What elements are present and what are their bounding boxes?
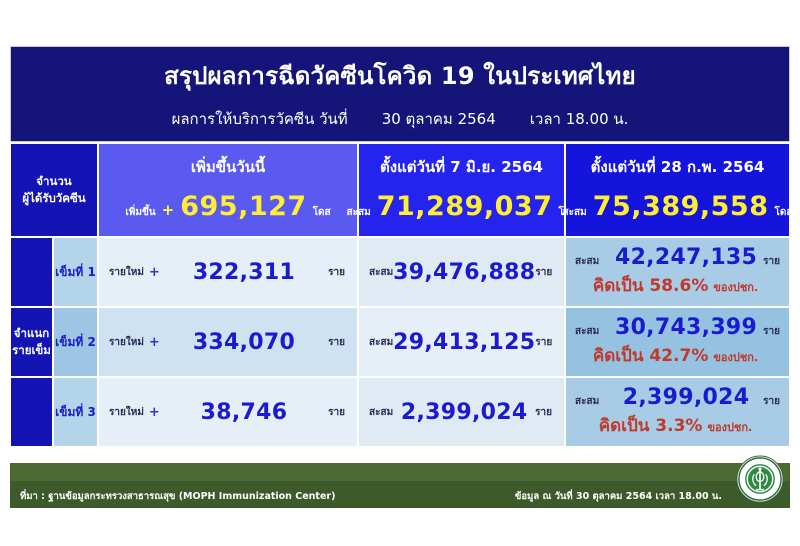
- group-label: จำแนก รายเข็ม: [10, 307, 53, 377]
- header-jun-value: 71,289,037: [377, 191, 553, 222]
- feb-prefix-3: สะสม: [575, 394, 609, 409]
- footer-accent-bar: [10, 463, 790, 481]
- feb-unit-2: ราย: [763, 324, 780, 339]
- subtitle-date: 30 ตุลาคม 2564: [382, 107, 496, 131]
- header-row-label: จำนวน ผู้ได้รับวัคซีน: [10, 143, 98, 237]
- feb-percent-row-3: คิดเป็น 3.3% ของปชก.: [566, 412, 789, 439]
- feb-unit-3: ราย: [763, 394, 780, 409]
- cell-today-1: รายใหม่ + 322,311 ราย: [98, 237, 358, 307]
- table-header-row: จำนวน ผู้ได้รับวัคซีน เพิ่มขึ้นวันนี้ เพ…: [10, 143, 790, 237]
- header-row-label-line2: ผู้ได้รับวัคซีน: [22, 190, 85, 207]
- jun-prefix-2: สะสม: [369, 335, 393, 350]
- cell-since-jun-1: สะสม 39,476,888 ราย: [358, 237, 565, 307]
- table-row: เข็มที่ 1 รายใหม่ + 322,311 ราย สะสม 39,…: [10, 237, 790, 307]
- header-feb-unit: โดส: [775, 205, 793, 220]
- feb-percent-row-1: คิดเป็น 58.6% ของปชก.: [566, 272, 789, 299]
- group-label-spacer-bottom: [10, 377, 53, 447]
- today-unit-3: ราย: [328, 405, 345, 420]
- header-col-since-feb-title: ตั้งแต่วันที่ 28 ก.พ. 2564: [566, 155, 789, 179]
- jun-value-1: 39,476,888: [393, 260, 535, 285]
- dose-label-2: เข็มที่ 2: [53, 307, 98, 377]
- header-row-label-line1: จำนวน: [36, 173, 71, 190]
- footer-source-text: ที่มา : ฐานข้อมูลกระทรวงสาธารณสุข (MOPH …: [20, 489, 335, 504]
- feb-percent-of-1: ของปชก.: [713, 278, 758, 296]
- header-col-since-feb-body: สะสม 75,389,558 โดส: [566, 191, 789, 222]
- today-prefix-3: รายใหม่: [109, 405, 144, 420]
- moph-logo-icon: [736, 455, 784, 503]
- feb-value-2: 30,743,399: [609, 315, 763, 340]
- header-today-unit: โดส: [313, 205, 331, 220]
- feb-prefix-2: สะสม: [575, 324, 609, 339]
- feb-prefix-1: สะสม: [575, 254, 609, 269]
- title-subtitle: ผลการให้บริการวัคซีน วันที่ 30 ตุลาคม 25…: [11, 107, 789, 131]
- cell-since-jun-3: สะสม 2,399,024 ราย: [358, 377, 565, 447]
- page-title: สรุปผลการฉีดวัคซีนโควิด 19 ในประเทศไทย: [11, 63, 789, 89]
- header-today-value: 695,127: [180, 191, 306, 222]
- footer-asof-text: ข้อมูล ณ วันที่ 30 ตุลาคม 2564 เวลา 18.0…: [515, 489, 722, 504]
- cell-today-3: รายใหม่ + 38,746 ราย: [98, 377, 358, 447]
- jun-prefix-1: สะสม: [369, 265, 393, 280]
- dose-label-3: เข็มที่ 3: [53, 377, 98, 447]
- subtitle-time: เวลา 18.00 น.: [530, 107, 629, 131]
- header-col-since-jun: ตั้งแต่วันที่ 7 มิ.ย. 2564 สะสม 71,289,0…: [358, 143, 565, 237]
- cell-since-feb-2: สะสม 30,743,399 ราย คิดเป็น 42.7% ของปชก…: [565, 307, 790, 377]
- today-plus-2: +: [149, 335, 160, 350]
- header-col-since-jun-title: ตั้งแต่วันที่ 7 มิ.ย. 2564: [359, 155, 564, 179]
- vaccination-summary-table: จำนวน ผู้ได้รับวัคซีน เพิ่มขึ้นวันนี้ เพ…: [10, 143, 790, 455]
- header-today-plus: +: [162, 201, 175, 219]
- jun-value-3: 2,399,024: [393, 400, 535, 425]
- feb-value-row-3: สะสม 2,399,024 ราย: [566, 385, 789, 410]
- header-col-today: เพิ่มขึ้นวันนี้ เพิ่มขึ้น + 695,127 โดส: [98, 143, 358, 237]
- table-row: เข็มที่ 3 รายใหม่ + 38,746 ราย สะสม 2,39…: [10, 377, 790, 447]
- today-plus-1: +: [149, 265, 160, 280]
- header-col-today-body: เพิ่มขึ้น + 695,127 โดส: [99, 191, 357, 222]
- dose-label-1: เข็มที่ 1: [53, 237, 98, 307]
- header-jun-prefix: สะสม: [347, 205, 371, 220]
- feb-percent-of-3: ของปชก.: [707, 418, 752, 436]
- header-feb-value: 75,389,558: [593, 191, 769, 222]
- today-plus-3: +: [149, 405, 160, 420]
- feb-percent-1: คิดเป็น 58.6%: [593, 272, 709, 299]
- jun-unit-1: ราย: [535, 265, 552, 280]
- table-row: จำแนก รายเข็ม เข็มที่ 2 รายใหม่ + 334,07…: [10, 307, 790, 377]
- group-label-spacer-top: [10, 237, 53, 307]
- cell-since-jun-2: สะสม 29,413,125 ราย: [358, 307, 565, 377]
- infographic-canvas: สรุปผลการฉีดวัคซีนโควิด 19 ในประเทศไทย ผ…: [0, 0, 800, 546]
- feb-unit-1: ราย: [763, 254, 780, 269]
- header-today-prefix: เพิ่มขึ้น: [125, 205, 155, 220]
- subtitle-label: ผลการให้บริการวัคซีน วันที่: [172, 107, 348, 131]
- header-col-since-jun-body: สะสม 71,289,037 โดส: [359, 191, 564, 222]
- jun-value-2: 29,413,125: [393, 330, 535, 355]
- feb-value-row-2: สะสม 30,743,399 ราย: [566, 315, 789, 340]
- header-col-since-feb: ตั้งแต่วันที่ 28 ก.พ. 2564 สะสม 75,389,5…: [565, 143, 790, 237]
- feb-value-1: 42,247,135: [609, 245, 763, 270]
- feb-percent-3: คิดเป็น 3.3%: [599, 412, 703, 439]
- cell-today-2: รายใหม่ + 334,070 ราย: [98, 307, 358, 377]
- today-value-2: 334,070: [160, 330, 328, 355]
- feb-value-row-1: สะสม 42,247,135 ราย: [566, 245, 789, 270]
- header-col-today-title: เพิ่มขึ้นวันนี้: [99, 155, 357, 179]
- title-banner: สรุปผลการฉีดวัคซีนโควิด 19 ในประเทศไทย ผ…: [10, 46, 790, 142]
- feb-percent-row-2: คิดเป็น 42.7% ของปชก.: [566, 342, 789, 369]
- today-prefix-2: รายใหม่: [109, 335, 144, 350]
- today-unit-2: ราย: [328, 335, 345, 350]
- today-value-3: 38,746: [160, 400, 328, 425]
- feb-percent-of-2: ของปชก.: [713, 348, 758, 366]
- cell-since-feb-3: สะสม 2,399,024 ราย คิดเป็น 3.3% ของปชก.: [565, 377, 790, 447]
- group-label-line1: จำแนก: [14, 325, 49, 342]
- today-unit-1: ราย: [328, 265, 345, 280]
- today-prefix-1: รายใหม่: [109, 265, 144, 280]
- today-value-1: 322,311: [160, 260, 328, 285]
- jun-prefix-3: สะสม: [369, 405, 393, 420]
- jun-unit-3: ราย: [535, 405, 552, 420]
- header-feb-prefix: สะสม: [563, 205, 587, 220]
- cell-since-feb-1: สะสม 42,247,135 ราย คิดเป็น 58.6% ของปชก…: [565, 237, 790, 307]
- feb-value-3: 2,399,024: [609, 385, 763, 410]
- group-label-line2: รายเข็ม: [12, 342, 51, 359]
- feb-percent-2: คิดเป็น 42.7%: [593, 342, 709, 369]
- jun-unit-2: ราย: [535, 335, 552, 350]
